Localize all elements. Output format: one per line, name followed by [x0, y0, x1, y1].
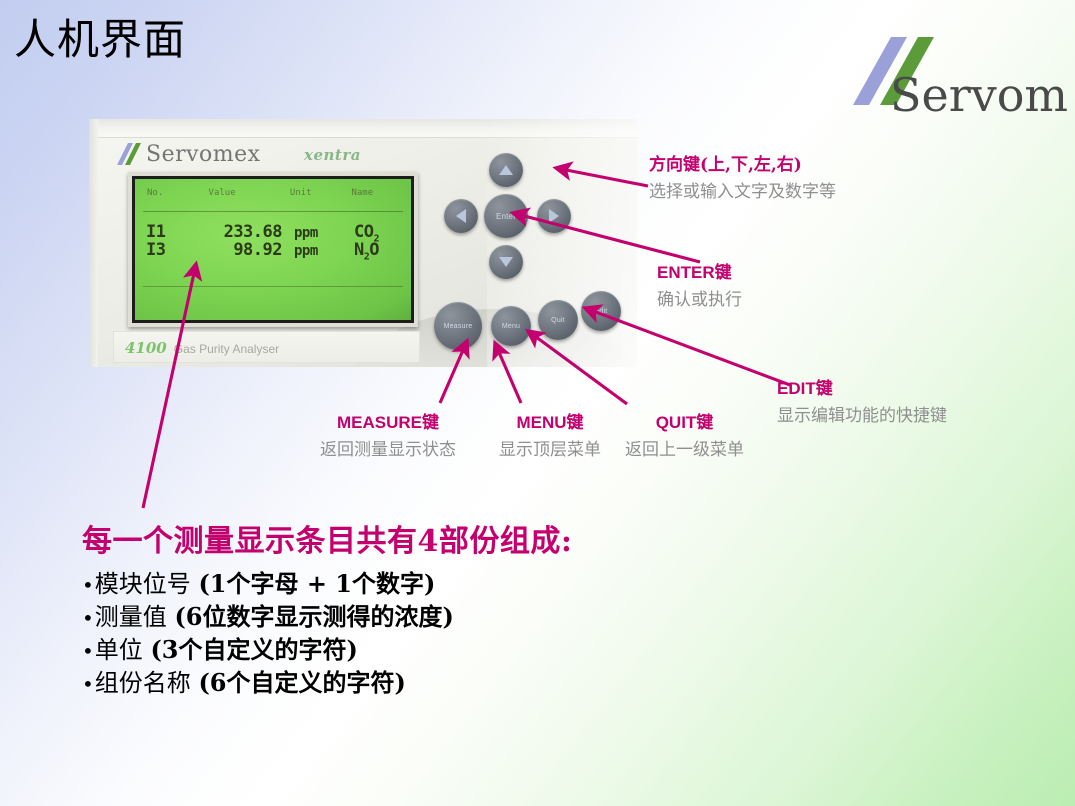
annotation-measure-desc: 返回测量显示状态 [320, 435, 456, 460]
key-menu[interactable]: Menu [491, 306, 531, 346]
annotation-menu-title: MENU键 [499, 408, 601, 433]
page-title: 人机界面 [14, 6, 186, 67]
annotation-quit-title: QUIT键 [625, 408, 744, 433]
bullet-icon: • [82, 639, 94, 663]
key-edit[interactable]: Edit [581, 291, 621, 331]
annotation-edit-title: EDIT键 [777, 374, 947, 399]
annotation-enter-title: ENTER键 [657, 258, 742, 283]
bottom-list-item: •单位 (3个自定义的字符) [82, 634, 572, 667]
bottom-list-item: •组份名称 (6个自定义的字符) [82, 667, 572, 700]
bottom-list-item: •测量值 (6位数字显示测得的浓度) [82, 601, 572, 634]
annotation-quit-desc: 返回上一级菜单 [625, 435, 744, 460]
arrow-left-icon [456, 209, 466, 223]
bullet-icon: • [82, 672, 94, 696]
logo-svg: Servomex [795, 33, 1070, 133]
annotation-direction-title: 方向键(上,下,左,右) [649, 150, 836, 175]
annotation-measure-title: MEASURE键 [320, 408, 456, 433]
key-quit[interactable]: Quit [538, 300, 578, 340]
keypad: Enter Measure Menu Quit Edit [89, 119, 637, 367]
annotation-edit-desc: 显示编辑功能的快捷键 [777, 401, 947, 426]
arrow-down-icon [499, 257, 513, 267]
bottom-text-block: 每一个测量显示条目共有4部份组成: •模块位号 (1个字母 + 1个数字) •测… [82, 516, 572, 700]
annotation-direction-desc: 选择或输入文字及数字等 [649, 177, 836, 202]
slide: 人机界面 Servomex Servomex xentra No. [0, 0, 1075, 806]
bottom-list: •模块位号 (1个字母 + 1个数字) •测量值 (6位数字显示测得的浓度) •… [82, 568, 572, 700]
analyser-photo: Servomex xentra No. Value Unit Name I1 2… [89, 119, 637, 367]
annotation-menu-key: MENU键 显示顶层菜单 [499, 408, 601, 460]
bottom-list-item: •模块位号 (1个字母 + 1个数字) [82, 568, 572, 601]
annotation-menu-desc: 显示顶层菜单 [499, 435, 601, 460]
annotation-quit-key: QUIT键 返回上一级菜单 [625, 408, 744, 460]
key-down[interactable] [489, 245, 523, 279]
bullet-icon: • [82, 606, 94, 630]
key-left[interactable] [444, 199, 478, 233]
arrow-up-icon [499, 165, 513, 175]
annotation-edit-key: EDIT键 显示编辑功能的快捷键 [777, 374, 947, 426]
key-right[interactable] [537, 199, 571, 233]
bullet-icon: • [82, 573, 94, 597]
annotation-measure-key: MEASURE键 返回测量显示状态 [320, 408, 456, 460]
key-up[interactable] [489, 153, 523, 187]
annotation-direction-keys: 方向键(上,下,左,右) 选择或输入文字及数字等 [649, 150, 836, 202]
annotation-enter-key: ENTER键 确认或执行 [657, 258, 742, 310]
key-enter[interactable]: Enter [484, 194, 528, 238]
arrow-right-icon [549, 209, 559, 223]
logo-wordmark: Servomex [890, 68, 1070, 122]
annotation-enter-desc: 确认或执行 [657, 285, 742, 310]
key-measure[interactable]: Measure [434, 302, 482, 350]
servomex-logo: Servomex [795, 33, 1070, 133]
bottom-heading: 每一个测量显示条目共有4部份组成: [82, 516, 572, 560]
